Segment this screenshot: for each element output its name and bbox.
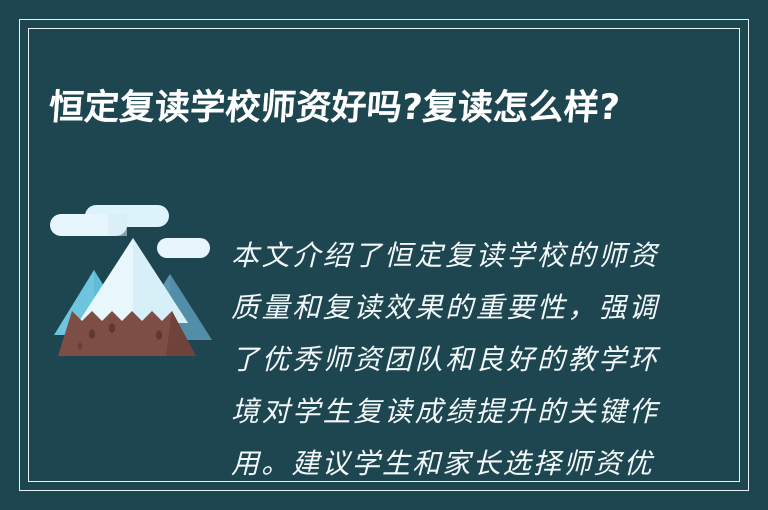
- rock-dot: [89, 329, 95, 338]
- cloud-right: [157, 238, 210, 258]
- article-card: 恒定复读学校师资好吗?复读怎么样?: [0, 0, 768, 510]
- cloud-left-shadow: [108, 214, 127, 236]
- page-title: 恒定复读学校师资好吗?复读怎么样?: [47, 81, 671, 135]
- rock-dot: [156, 330, 162, 339]
- article-summary: 本文介绍了恒定复读学校的师资质量和复读效果的重要性，强调了优秀师资团队和良好的教…: [231, 230, 659, 490]
- rock-dot: [109, 323, 115, 332]
- mountain-landscape-icon: [48, 200, 220, 370]
- rock-dot: [78, 343, 83, 350]
